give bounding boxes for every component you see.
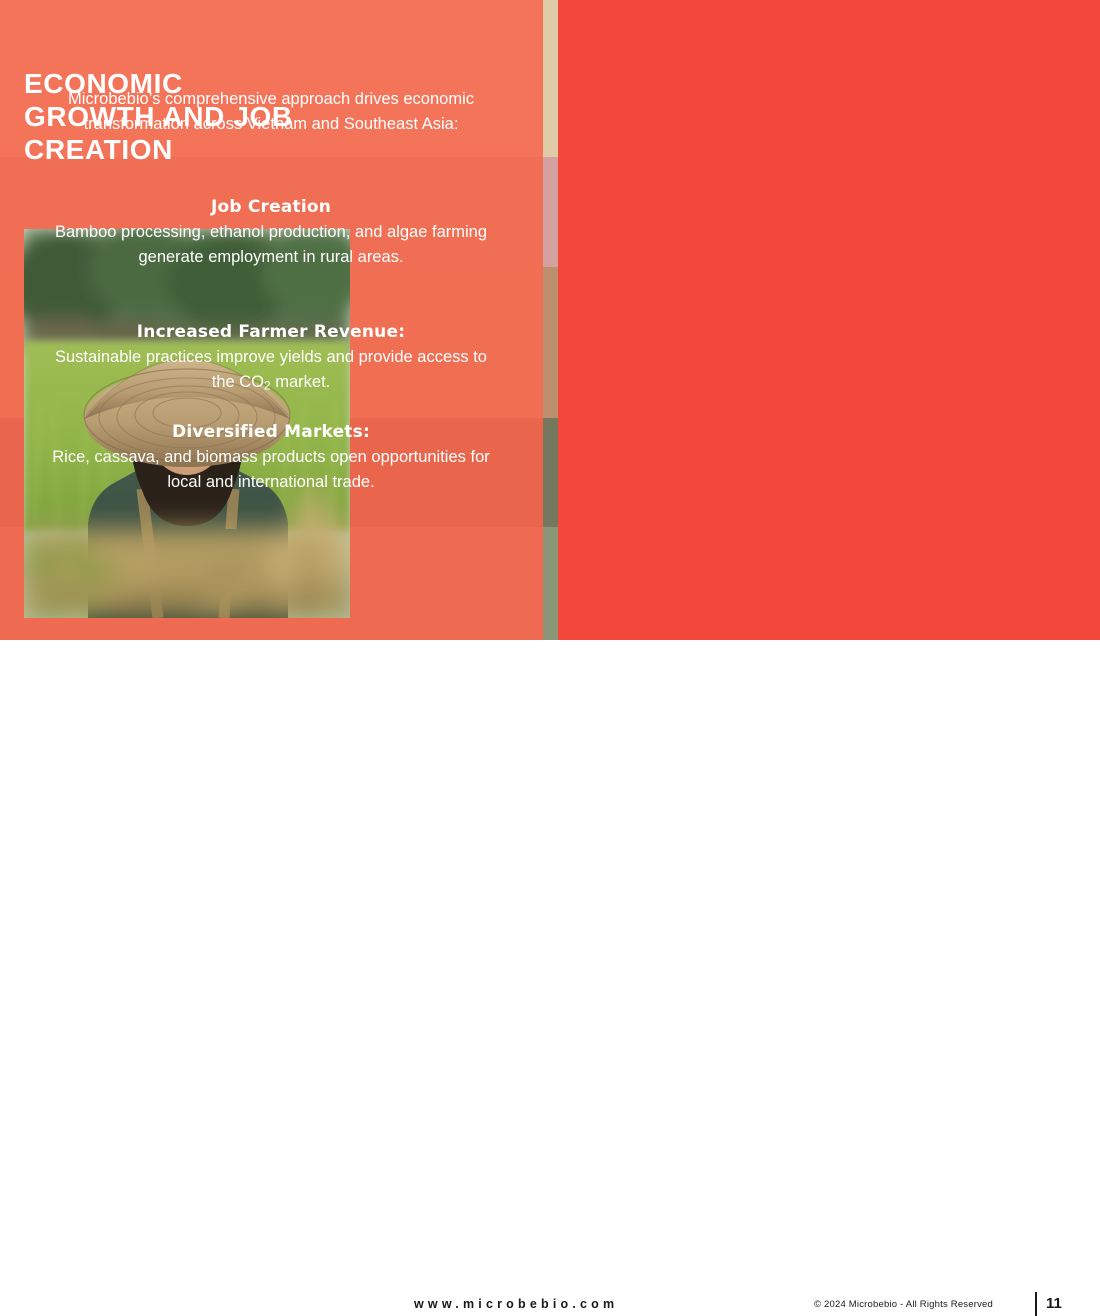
section-diversified-markets: Diversified Markets: Rice, cassava, and …: [42, 420, 500, 495]
page-number-divider: [1035, 1292, 1037, 1316]
website-url[interactable]: www.microbebio.com: [414, 1297, 618, 1311]
intro-paragraph: Microbebio’s comprehensive approach driv…: [50, 87, 492, 137]
page-number: 11: [1046, 1295, 1062, 1312]
revenue-body-after: market.: [271, 373, 331, 391]
strip-band-3: [543, 267, 558, 418]
section-body-job-creation: Bamboo processing, ethanol production, a…: [42, 220, 500, 270]
slide-root: ECONOMIC GROWTH AND JOB CREATION: [0, 0, 1100, 700]
section-heading-diversified-markets: Diversified Markets:: [42, 420, 500, 445]
section-body-increased-farmer-revenue: Sustainable practices improve yields and…: [42, 345, 500, 399]
section-body-diversified-markets: Rice, cassava, and biomass products open…: [42, 445, 500, 495]
co2-subscript: 2: [264, 379, 271, 393]
section-job-creation: Job Creation Bamboo processing, ethanol …: [42, 195, 500, 270]
right-panel: [558, 0, 1100, 640]
strip-band-1: [543, 0, 558, 157]
strip-band-2: [543, 157, 558, 267]
page-title-line-3: CREATION: [24, 133, 444, 166]
section-heading-increased-farmer-revenue: Increased Farmer Revenue:: [42, 320, 500, 345]
slide-footer: www.microbebio.com © 2024 Microbebio - A…: [0, 640, 1100, 700]
strip-band-5: [543, 527, 558, 640]
section-increased-farmer-revenue: Increased Farmer Revenue: Sustainable pr…: [42, 320, 500, 399]
section-heading-job-creation: Job Creation: [42, 195, 500, 220]
strip-band-4: [543, 418, 558, 527]
copyright-text: © 2024 Microbebio - All Rights Reserved: [814, 1299, 993, 1310]
accent-color-strip: [543, 0, 558, 640]
